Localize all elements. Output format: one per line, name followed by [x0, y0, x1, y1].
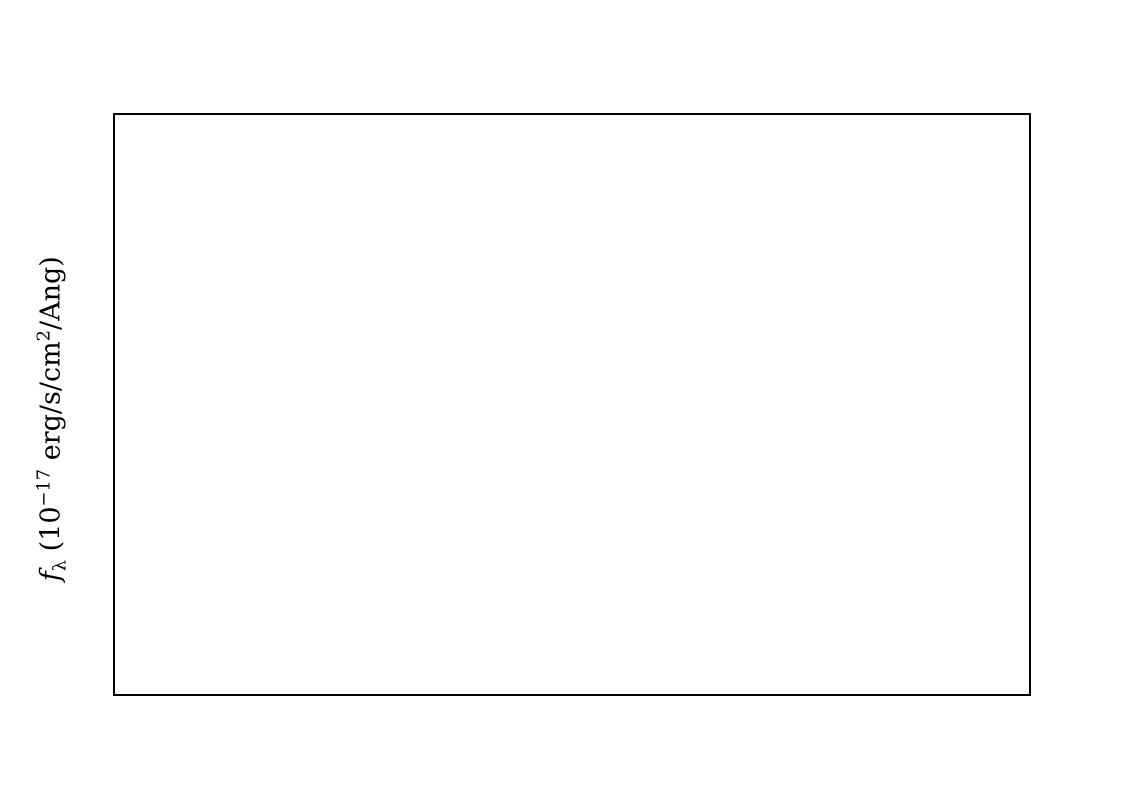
- spectrum-plot-frame: [113, 113, 1031, 696]
- spectrum-canvas: [115, 115, 1029, 694]
- spectrum-curves: [115, 115, 1029, 694]
- y-axis-title: fλ (10−17 erg/s/cm2/Ang): [33, 119, 70, 719]
